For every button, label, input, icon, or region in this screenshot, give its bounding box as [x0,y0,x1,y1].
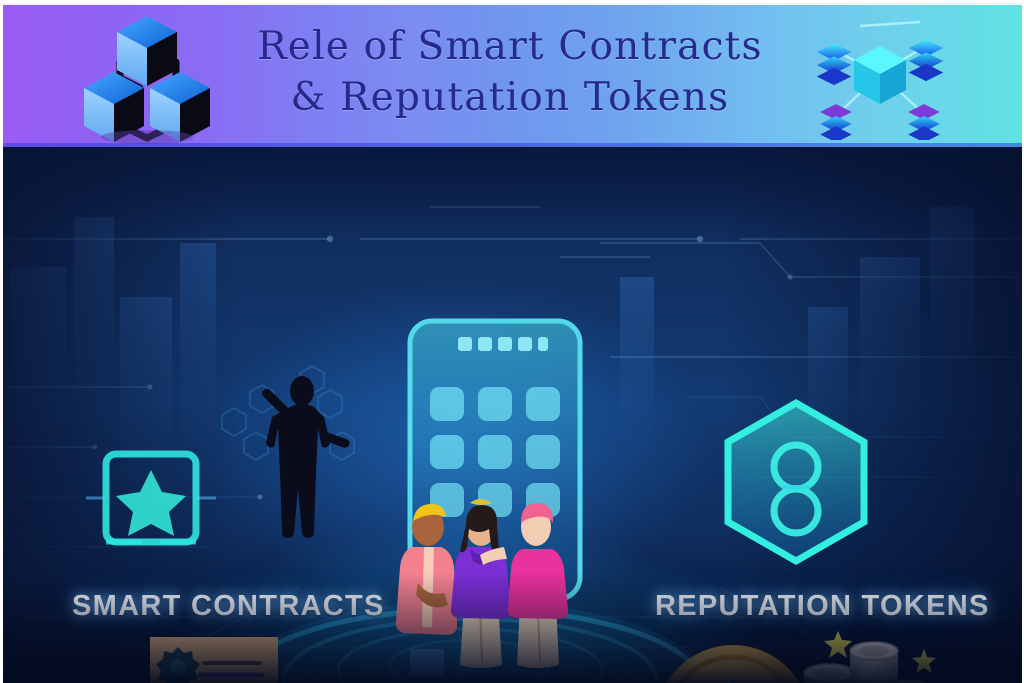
hexagon-token-icon [716,395,876,573]
header-banner: Rele of Smart Contracts & Reputation Tok… [0,0,1024,147]
person-silhouette-icon [234,369,384,544]
title-line-1: Rele of Smart Contracts [257,23,763,72]
page-border-top [0,0,1024,3]
page-title: Rele of Smart Contracts & Reputation Tok… [200,8,820,138]
title-line-2: & Reputation Tokens [291,74,730,123]
distributed-network-nodes-icon [800,8,960,140]
artwork-area: SMART CONTRACTS REPUTATION TOKENS [0,147,1024,683]
poster-canvas: Rele of Smart Contracts & Reputation Tok… [0,0,1024,683]
page-border-left [0,0,3,683]
bottom-vignette [0,573,1024,683]
security-chip-icon [86,432,216,562]
